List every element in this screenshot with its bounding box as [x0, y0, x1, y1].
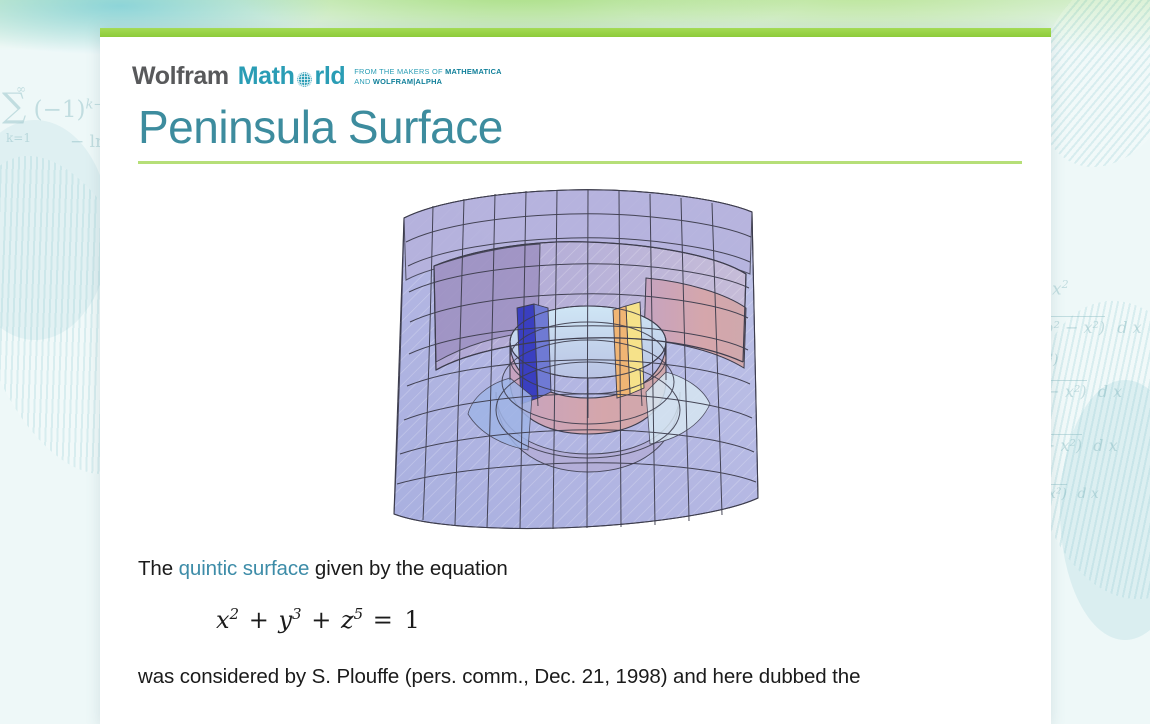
logo-tagline-line1-prefix: FROM THE MAKERS OF: [354, 67, 445, 76]
logo-tagline-wolframalpha: WOLFRAM|ALPHA: [373, 77, 442, 86]
background-formula-right-1: x2: [1052, 278, 1069, 300]
background-formula-right-1-exp: 2: [1062, 278, 1069, 291]
paragraph-1-suffix: given by the equation: [309, 557, 507, 580]
title-divider: [138, 161, 1022, 164]
logo-mathworld-text: Math rld: [238, 63, 345, 90]
background-formula-right-5: − x²) d x: [1042, 436, 1118, 455]
background-formula-left: ∞ ∑ k=1 (−1)k−1: [2, 86, 113, 126]
peninsula-surface-plot[interactable]: [388, 182, 764, 530]
logo-tagline-line2-prefix: AND: [354, 77, 373, 86]
equation-term2-exponent: 3: [292, 605, 302, 623]
background-formula-right-1-text: x: [1052, 280, 1062, 300]
background-formula-left-body: (−1): [34, 97, 86, 123]
article-body: The quintic surface given by the equatio…: [138, 554, 1019, 692]
background-formula-right-2b: d x: [1117, 318, 1141, 337]
paragraph-2: was considered by S. Plouffe (pers. comm…: [138, 662, 1019, 692]
link-quintic-surface[interactable]: quintic surface: [179, 557, 310, 580]
background-formula-right-2: (b² − x²) d x: [1037, 318, 1142, 337]
display-equation: x2 + y3 + z5 = 1: [216, 605, 1019, 634]
equation-rhs: 1: [403, 606, 422, 634]
site-logo[interactable]: Wolfram Math: [132, 63, 1019, 93]
paragraph-1: The quintic surface given by the equatio…: [138, 554, 1019, 584]
equation-op2: +: [302, 606, 341, 634]
background-formula-right-6b: d x: [1077, 486, 1098, 502]
background-formula-right-4b: d x: [1098, 382, 1122, 401]
logo-math-text: Math: [238, 63, 295, 90]
logo-tagline: FROM THE MAKERS OF MATHEMATICA AND WOLFR…: [354, 67, 502, 86]
logo-wolfram-text: Wolfram: [132, 63, 229, 90]
background-formula-right-6: x²) d x: [1048, 486, 1099, 502]
equation-op1: +: [239, 606, 278, 634]
background-formula-right-5b: d x: [1093, 436, 1117, 455]
background-formula-left-sup: ∞: [16, 82, 26, 96]
equation-term3: z: [341, 606, 354, 634]
logo-world-text: rld: [314, 63, 345, 90]
equation-term1-exponent: 2: [230, 605, 240, 623]
equation-term2: y: [278, 606, 292, 634]
content-card: Wolfram Math: [100, 28, 1051, 724]
background-formula-left-sub: k=1: [6, 131, 31, 145]
equation-term3-exponent: 5: [354, 605, 364, 623]
equation-term1: x: [216, 606, 230, 634]
logo-tagline-mathematica: MATHEMATICA: [445, 67, 502, 76]
paragraph-1-prefix: The: [138, 557, 179, 580]
globe-icon: [295, 68, 314, 87]
card-accent-bar: [100, 28, 1051, 37]
page-title: Peninsula Surface: [138, 99, 1019, 155]
equation-equals: =: [363, 606, 402, 634]
figure-container: [132, 182, 1019, 532]
